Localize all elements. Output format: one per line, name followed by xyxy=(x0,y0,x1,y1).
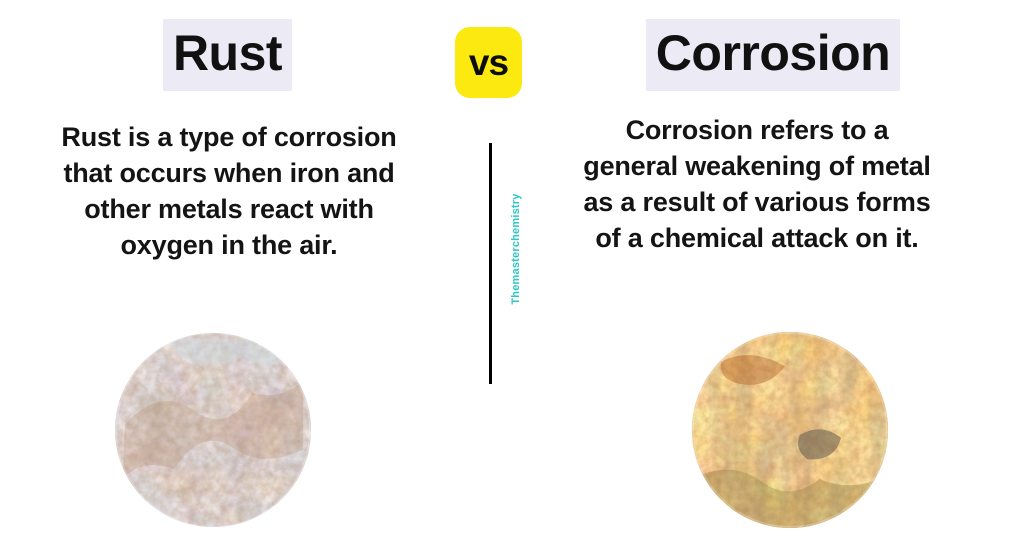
left-column-body: Rust is a type of corrosion that occurs … xyxy=(48,120,410,264)
right-column-body: Corrosion refers to a general weakening … xyxy=(578,113,936,257)
corrosion-photo xyxy=(692,332,888,528)
watermark-label: Themasterchemistry xyxy=(510,179,522,319)
left-column-title: Rust xyxy=(0,28,455,78)
corrosion-texture-graphic xyxy=(692,332,888,528)
rust-photo xyxy=(115,333,311,527)
right-title-text: Corrosion xyxy=(646,19,900,91)
vs-badge-label: vs xyxy=(469,44,508,81)
right-column-title: Corrosion xyxy=(522,28,1024,78)
center-divider xyxy=(489,143,492,384)
left-title-text: Rust xyxy=(163,19,292,91)
vs-badge: vs xyxy=(455,27,522,98)
infographic-canvas: Rust vs Corrosion Rust is a type of corr… xyxy=(0,0,1024,536)
rust-texture-graphic xyxy=(115,333,311,527)
